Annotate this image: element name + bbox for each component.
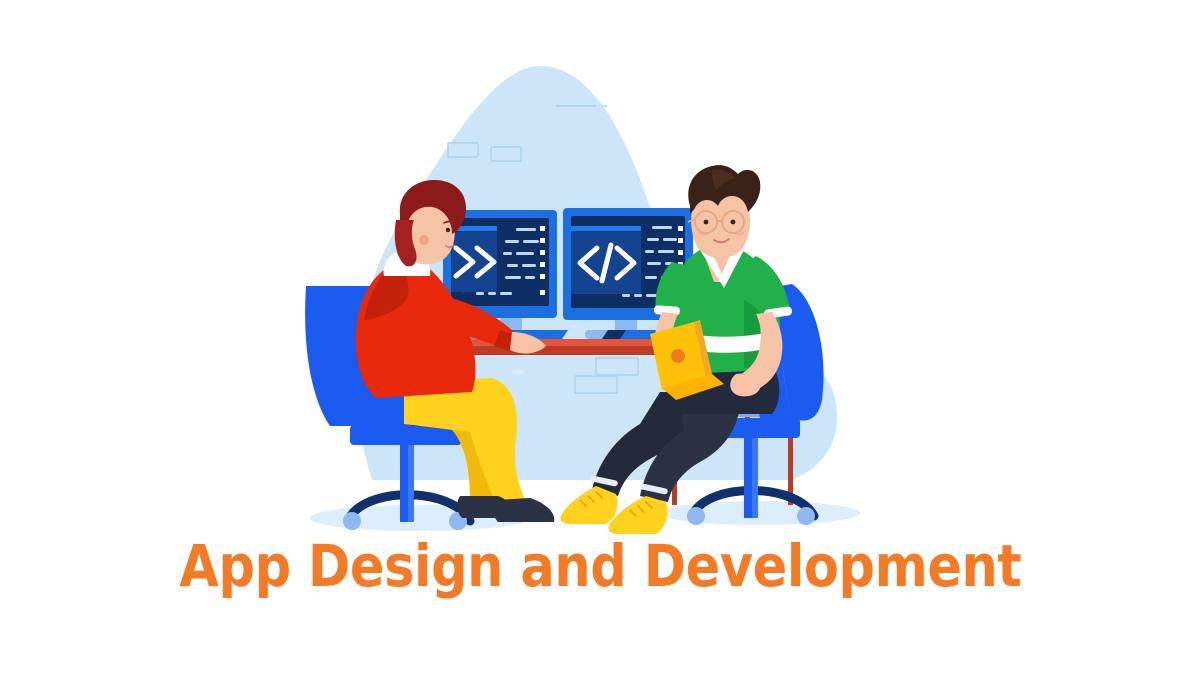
developer-right-blush-left [700,233,708,234]
developer-right-shoe-far [560,486,617,524]
developer-right-eye-right [731,220,736,225]
chair-right-caster-1 [687,507,705,525]
developer-right-blush-right [735,233,743,234]
developer-left-ear [419,235,429,245]
developer-right-eye-left [704,220,709,225]
accent-mark-1 [512,370,524,374]
two-developers-at-desk-illustration [0,0,1200,675]
monitor-right-header-bar [571,226,641,231]
chair-left-column-hl [408,442,414,522]
chair-left-caster-1 [343,512,361,530]
chair-right-column-hl [752,436,758,518]
developer-left-eye [446,228,450,232]
accent-marks [512,370,524,374]
developer-left-shoe-near [493,498,554,522]
chair-right-caster-2 [797,507,815,525]
app-design-banner: App Design and Development [0,0,1200,675]
laptop-logo [671,349,685,363]
